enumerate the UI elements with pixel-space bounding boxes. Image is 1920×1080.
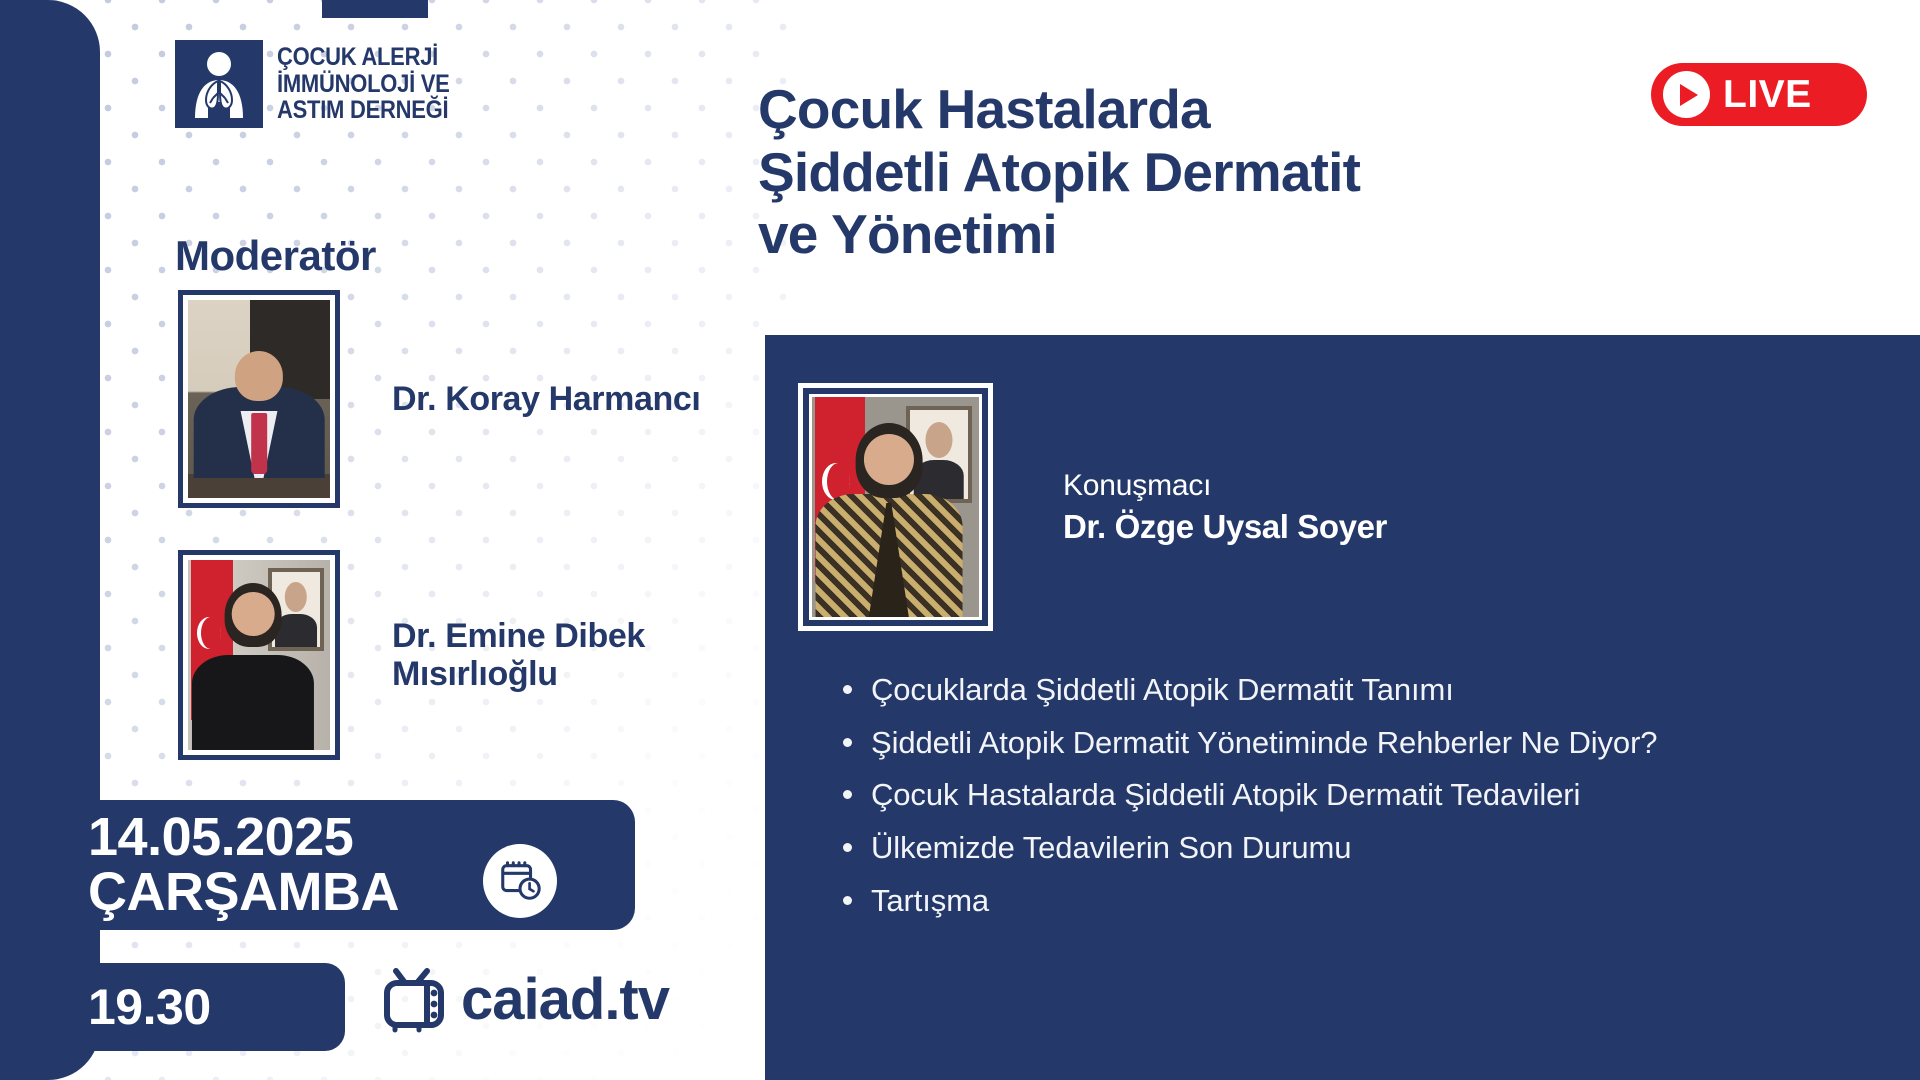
moderator-name: Dr. Koray Harmancı — [392, 380, 700, 418]
speaker-meta: Konuşmacı Dr. Özge Uysal Soyer — [1063, 467, 1387, 548]
moderator-photo — [188, 560, 330, 750]
topic-item: Çocuk Hastalarda Şiddetli Atopik Dermati… — [837, 775, 1887, 815]
moderator-item: Dr. Koray Harmancı — [178, 290, 700, 508]
speaker-panel: Konuşmacı Dr. Özge Uysal Soyer Çocuklard… — [765, 335, 1920, 1080]
event-time-badge: 19.30 — [0, 963, 345, 1051]
association-name: ÇOCUK ALERJİ İMMÜNOLOJİ VE ASTIM DERNEĞİ — [277, 44, 450, 124]
channel-block[interactable]: caiad.tv — [383, 966, 669, 1033]
channel-name: caiad.tv — [461, 966, 669, 1033]
live-badge[interactable]: LIVE — [1651, 63, 1867, 126]
moderator-photo-frame — [178, 550, 340, 760]
speaker-photo — [809, 394, 982, 620]
event-time: 19.30 — [88, 978, 211, 1036]
event-date: 14.05.2025 ÇARŞAMBA — [88, 810, 399, 920]
speaker-name: Dr. Özge Uysal Soyer — [1063, 506, 1387, 547]
association-logo: ÇOCUK ALERJİ İMMÜNOLOJİ VE ASTIM DERNEĞİ — [175, 40, 473, 128]
moderator-photo-frame — [178, 290, 340, 508]
play-icon — [1663, 71, 1710, 118]
speaker-block: Konuşmacı Dr. Özge Uysal Soyer — [798, 383, 1387, 631]
topic-item: Çocuklarda Şiddetli Atopik Dermatit Tanı… — [837, 670, 1887, 710]
moderator-item: Dr. Emine Dibek Mısırlıoğlu — [178, 550, 712, 760]
topic-item: Şiddetli Atopik Dermatit Yönetiminde Reh… — [837, 723, 1887, 763]
webinar-poster: ÇOCUK ALERJİ İMMÜNOLOJİ VE ASTIM DERNEĞİ… — [0, 0, 1920, 1080]
moderator-name: Dr. Emine Dibek Mısırlıoğlu — [392, 617, 712, 693]
top-accent-tab — [322, 0, 428, 18]
moderator-photo — [188, 300, 330, 498]
topic-item: Ülkemizde Tedavilerin Son Durumu — [837, 828, 1887, 868]
topic-item: Tartışma — [837, 881, 1887, 921]
calendar-clock-icon — [483, 844, 557, 918]
speaker-role-label: Konuşmacı — [1063, 467, 1387, 505]
topic-list: Çocuklarda Şiddetli Atopik Dermatit Tanı… — [837, 670, 1887, 933]
live-label: LIVE — [1723, 73, 1812, 117]
lungs-person-icon — [175, 40, 263, 128]
tv-icon — [383, 967, 453, 1033]
moderator-heading: Moderatör — [175, 232, 376, 280]
page-title: Çocuk Hastalarda Şiddetli Atopik Dermati… — [758, 78, 1798, 266]
event-date-badge: 14.05.2025 ÇARŞAMBA — [0, 800, 635, 930]
speaker-photo-frame — [798, 383, 993, 631]
